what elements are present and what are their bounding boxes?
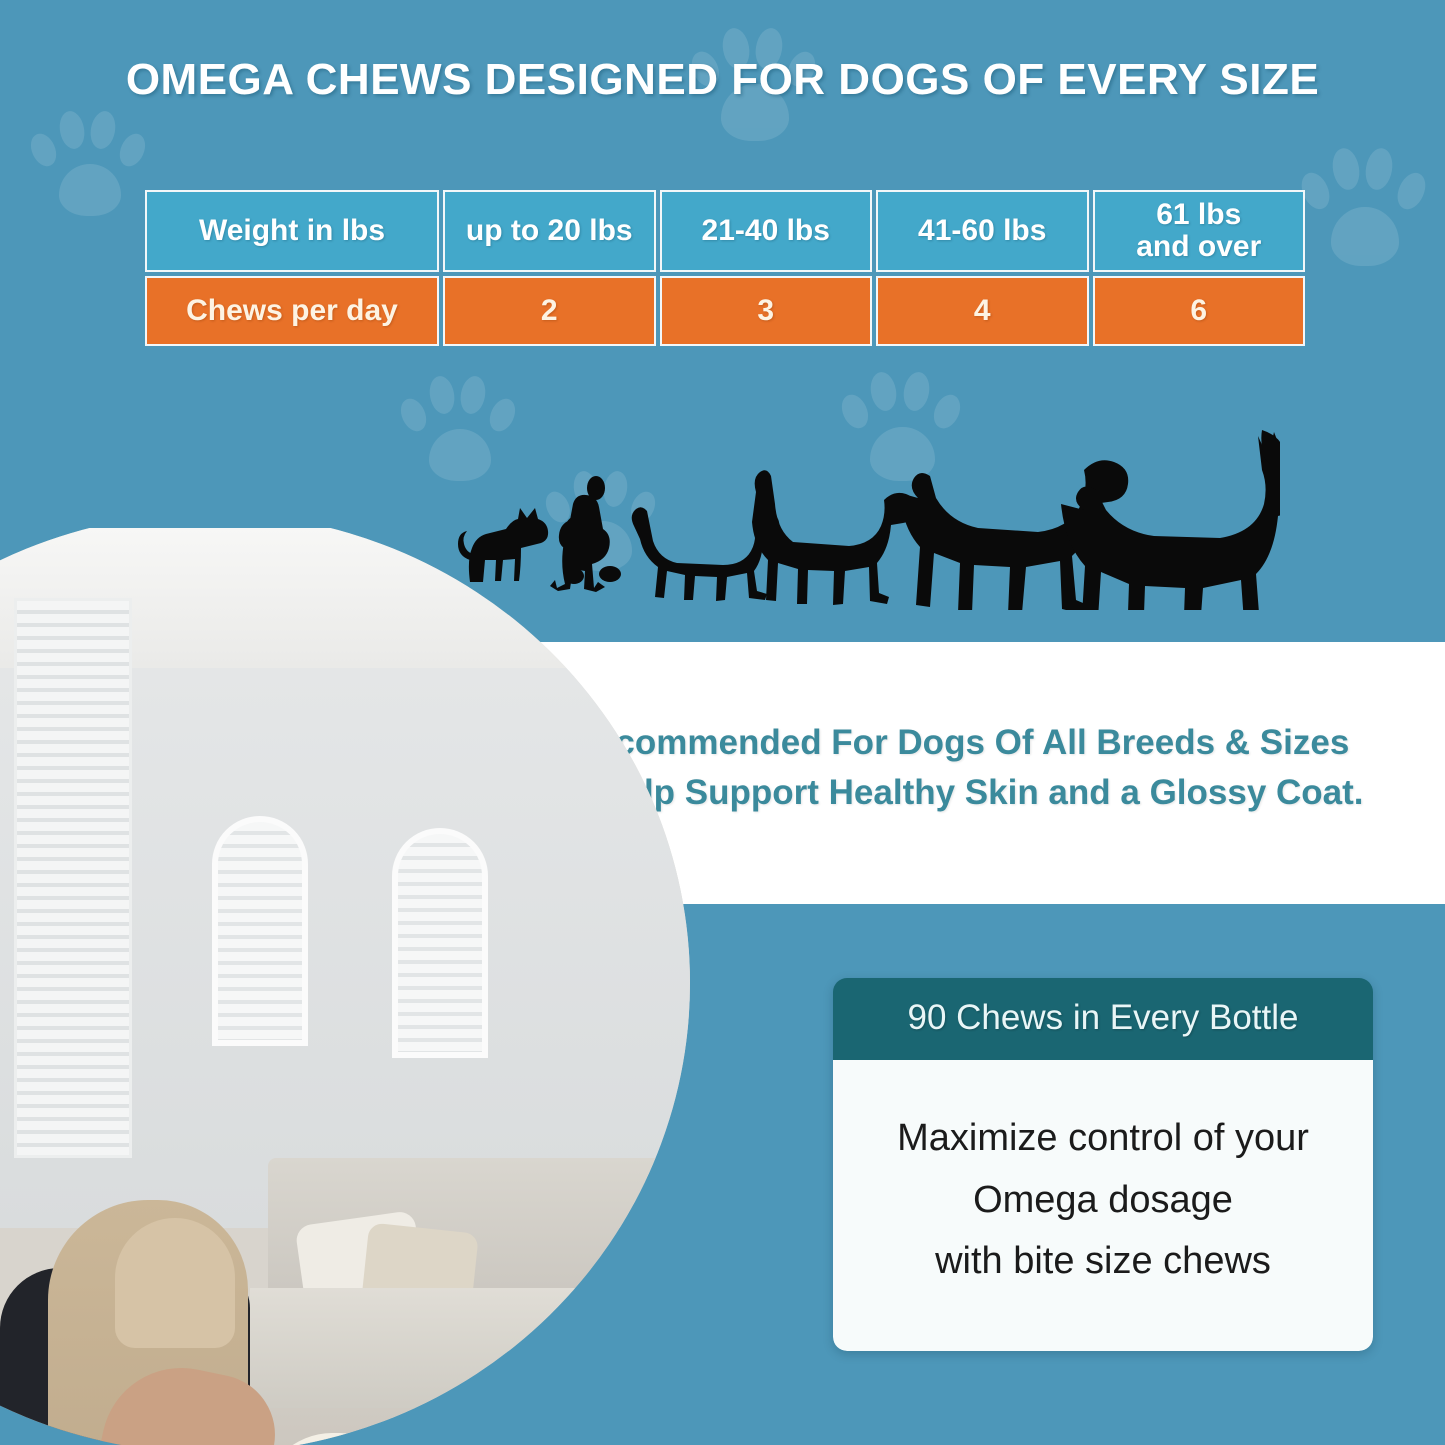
table-data-row: Chews per day 2 3 4 6 xyxy=(145,276,1305,346)
table-value-1: 2 xyxy=(443,276,656,346)
table-value-3: 4 xyxy=(876,276,1089,346)
table-header-range-3: 41-60 lbs xyxy=(876,190,1089,272)
table-header-range-4: 61 lbs and over xyxy=(1093,190,1306,272)
table-header-range-4-line2: and over xyxy=(1136,231,1261,263)
info-card-body: Maximize control of your Omega dosage wi… xyxy=(833,1060,1373,1351)
info-card-line-1: Maximize control of your xyxy=(853,1108,1353,1170)
promo-line-1: Recommended For Dogs Of All Breeds & Siz… xyxy=(500,718,1420,768)
table-header-range-1: up to 20 lbs xyxy=(443,190,656,272)
beagle-silhouette xyxy=(752,470,916,605)
infographic-page: OMEGA CHEWS DESIGNED FOR DOGS OF EVERY S… xyxy=(0,0,1445,1445)
chihuahua-silhouette xyxy=(458,508,548,582)
table-header-row: Weight in lbs up to 20 lbs 21-40 lbs 41-… xyxy=(145,190,1305,272)
table-header-range-4-line1: 61 lbs xyxy=(1136,199,1261,231)
page-title: OMEGA CHEWS DESIGNED FOR DOGS OF EVERY S… xyxy=(0,55,1445,105)
info-card-header: 90 Chews in Every Bottle xyxy=(833,978,1373,1060)
info-card-line-3: with bite size chews xyxy=(853,1231,1353,1293)
paw-print-icon xyxy=(30,95,150,220)
paw-print-icon xyxy=(1300,130,1430,270)
table-header-weight: Weight in lbs xyxy=(145,190,439,272)
poodle-silhouette xyxy=(550,476,621,592)
table-label-chews-per-day: Chews per day xyxy=(145,276,439,346)
info-card-line-2: Omega dosage xyxy=(853,1170,1353,1232)
dog-size-silhouette-strip xyxy=(440,370,1280,610)
table-header-range-2: 21-40 lbs xyxy=(660,190,873,272)
table-value-2: 3 xyxy=(660,276,873,346)
info-card: 90 Chews in Every Bottle Maximize contro… xyxy=(833,978,1373,1351)
table-value-4: 6 xyxy=(1093,276,1306,346)
dosage-table: Weight in lbs up to 20 lbs 21-40 lbs 41-… xyxy=(145,190,1305,346)
great-dane-silhouette xyxy=(1061,430,1280,610)
